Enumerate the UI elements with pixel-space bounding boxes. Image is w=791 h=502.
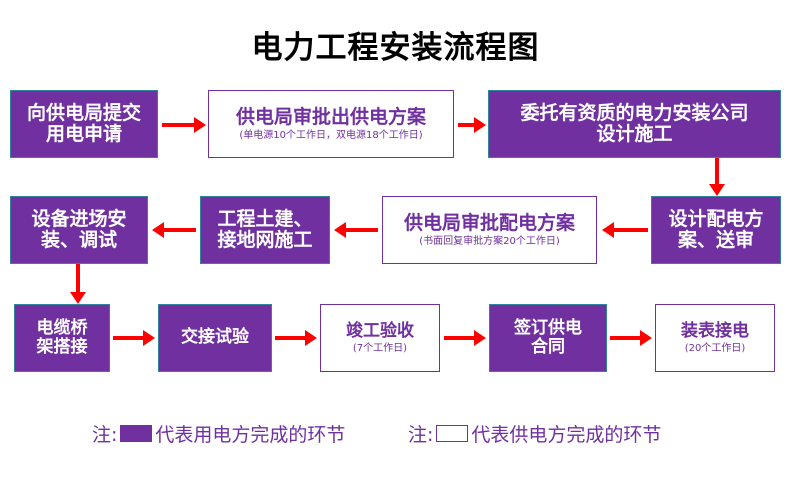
flow-node-label: 设计配电方 案、送审	[668, 209, 763, 252]
arrow-head	[474, 117, 486, 133]
flow-node-label: 向供电局提交 用电申请	[27, 103, 141, 146]
arrow-n7-to-n8	[70, 264, 86, 304]
arrow-shaft	[612, 228, 648, 232]
arrow-n6-to-n7	[152, 222, 196, 238]
arrow-n5-to-n6	[334, 222, 378, 238]
arrow-shaft	[275, 336, 307, 340]
flow-node-meter-install-connect[interactable]: 装表接电 (20个工作日)	[655, 304, 775, 372]
arrow-shaft	[715, 158, 719, 186]
flow-node-utility-approve-supply-plan[interactable]: 供电局审批出供电方案 (单电源10个工作日，双电源18个工作日)	[208, 90, 454, 158]
flow-node-design-distribution-plan[interactable]: 设计配电方 案、送审	[651, 196, 781, 264]
arrow-n9-to-n10	[275, 330, 317, 346]
arrow-n4-to-n5	[602, 222, 648, 238]
arrow-head	[194, 117, 206, 133]
legend-utility-side: 注: 代表供电方完成的环节	[408, 420, 661, 447]
arrow-head	[70, 292, 86, 304]
flow-node-sublabel: (7个工作日)	[353, 343, 407, 354]
arrow-shaft	[444, 336, 476, 340]
legend-text: 代表用电方完成的环节	[155, 420, 345, 447]
arrow-head	[143, 330, 155, 346]
flow-node-sublabel: (20个工作日)	[685, 343, 746, 354]
arrow-n2-to-n3	[458, 117, 486, 133]
arrow-head	[474, 330, 486, 346]
arrow-n1-to-n2	[162, 117, 206, 133]
flow-node-label: 签订供电 合同	[514, 319, 582, 357]
arrow-shaft	[162, 228, 196, 232]
arrow-head	[709, 184, 725, 196]
flow-node-sign-supply-contract[interactable]: 签订供电 合同	[489, 304, 607, 372]
flow-node-equipment-install-commission[interactable]: 设备进场安 装、调试	[10, 196, 148, 264]
arrow-head	[305, 330, 317, 346]
arrow-n10-to-n11	[444, 330, 486, 346]
arrow-shaft	[162, 123, 196, 127]
flow-node-label: 电缆桥 架搭接	[37, 319, 88, 357]
arrow-shaft	[76, 264, 80, 294]
arrow-n11-to-n12	[610, 330, 652, 346]
arrow-shaft	[113, 336, 145, 340]
flow-node-label: 工程土建、 接地网施工	[217, 209, 312, 252]
flow-node-label: 供电局审批出供电方案	[236, 107, 426, 128]
arrow-shaft	[344, 228, 378, 232]
flow-node-label: 委托有资质的电力安装公司 设计施工	[520, 103, 748, 146]
flow-node-civil-works-grounding[interactable]: 工程土建、 接地网施工	[200, 196, 330, 264]
flow-node-sublabel: (书面回复审批方案20个工作日)	[419, 236, 560, 247]
flow-node-label: 设备进场安 装、调试	[31, 209, 126, 252]
flow-node-handover-test[interactable]: 交接试验	[158, 304, 272, 372]
flow-node-label: 竣工验收	[346, 322, 414, 341]
legend-prefix: 注:	[408, 420, 433, 447]
flow-node-label: 交接试验	[181, 328, 249, 347]
arrow-n8-to-n9	[113, 330, 155, 346]
flow-node-utility-approve-distribution-plan[interactable]: 供电局审批配电方案 (书面回复审批方案20个工作日)	[382, 196, 597, 264]
arrow-head	[640, 330, 652, 346]
flow-node-cable-tray-connection[interactable]: 电缆桥 架搭接	[14, 304, 110, 372]
legend-prefix: 注:	[92, 420, 117, 447]
flow-node-completion-acceptance[interactable]: 竣工验收 (7个工作日)	[320, 304, 440, 372]
legend-hollow-square-icon	[436, 425, 468, 442]
flow-node-label: 供电局审批配电方案	[404, 213, 575, 234]
flow-node-sublabel: (单电源10个工作日，双电源18个工作日)	[239, 130, 422, 141]
arrow-n3-to-n4	[709, 158, 725, 196]
flow-node-apply-for-power[interactable]: 向供电局提交 用电申请	[10, 90, 158, 158]
flow-node-label: 装表接电	[681, 322, 749, 341]
page-title: 电力工程安装流程图	[0, 22, 791, 67]
arrow-shaft	[610, 336, 642, 340]
legend-filled-square-icon	[120, 425, 152, 442]
legend-customer-side: 注: 代表用电方完成的环节	[92, 420, 345, 447]
legend-text: 代表供电方完成的环节	[471, 420, 661, 447]
flow-node-commission-installer[interactable]: 委托有资质的电力安装公司 设计施工	[488, 90, 781, 158]
